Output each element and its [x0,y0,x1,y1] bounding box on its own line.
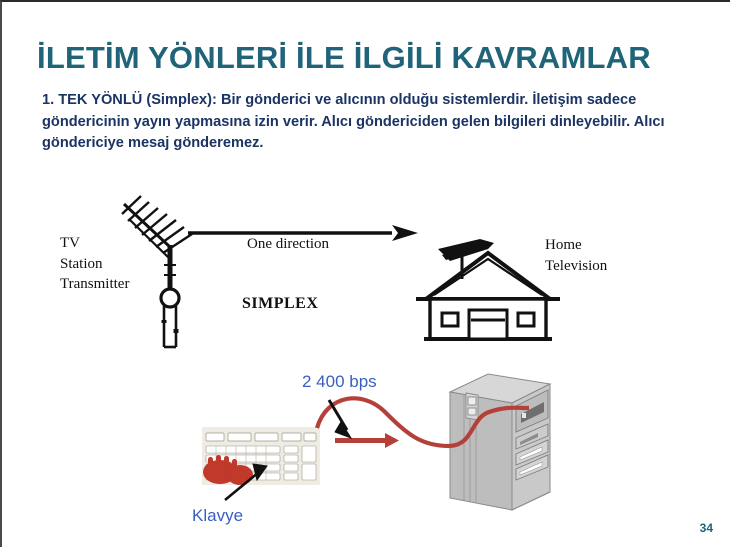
page-title: İLETİM YÖNLERİ İLE İLGİLİ KAVRAMLAR [37,40,697,76]
signal-path-drawing [177,360,597,545]
roof-antenna-icon [438,239,494,261]
simplex-diagram-drawing [42,187,692,347]
one-direction-arrow-icon [188,225,418,241]
bitrate-pointer-arrow-icon [329,400,351,438]
transmitter-tower-icon [122,196,192,347]
page-number: 34 [700,521,713,535]
keyboard-pointer-arrow-icon [225,464,267,500]
body-paragraph-lead: 1. TEK YÖNLÜ (Simplex): [42,92,217,108]
figure-keyboard-to-computer: 2 400 bps Klavye [177,360,597,545]
slide-canvas: İLETİM YÖNLERİ İLE İLGİLİ KAVRAMLAR 1. T… [0,0,730,547]
figure-simplex-broadcast: TV Station Transmitter One direction SIM… [42,187,692,347]
home-house-icon [416,239,560,339]
body-paragraph: 1. TEK YÖNLÜ (Simplex): Bir gönderici ve… [42,90,682,155]
